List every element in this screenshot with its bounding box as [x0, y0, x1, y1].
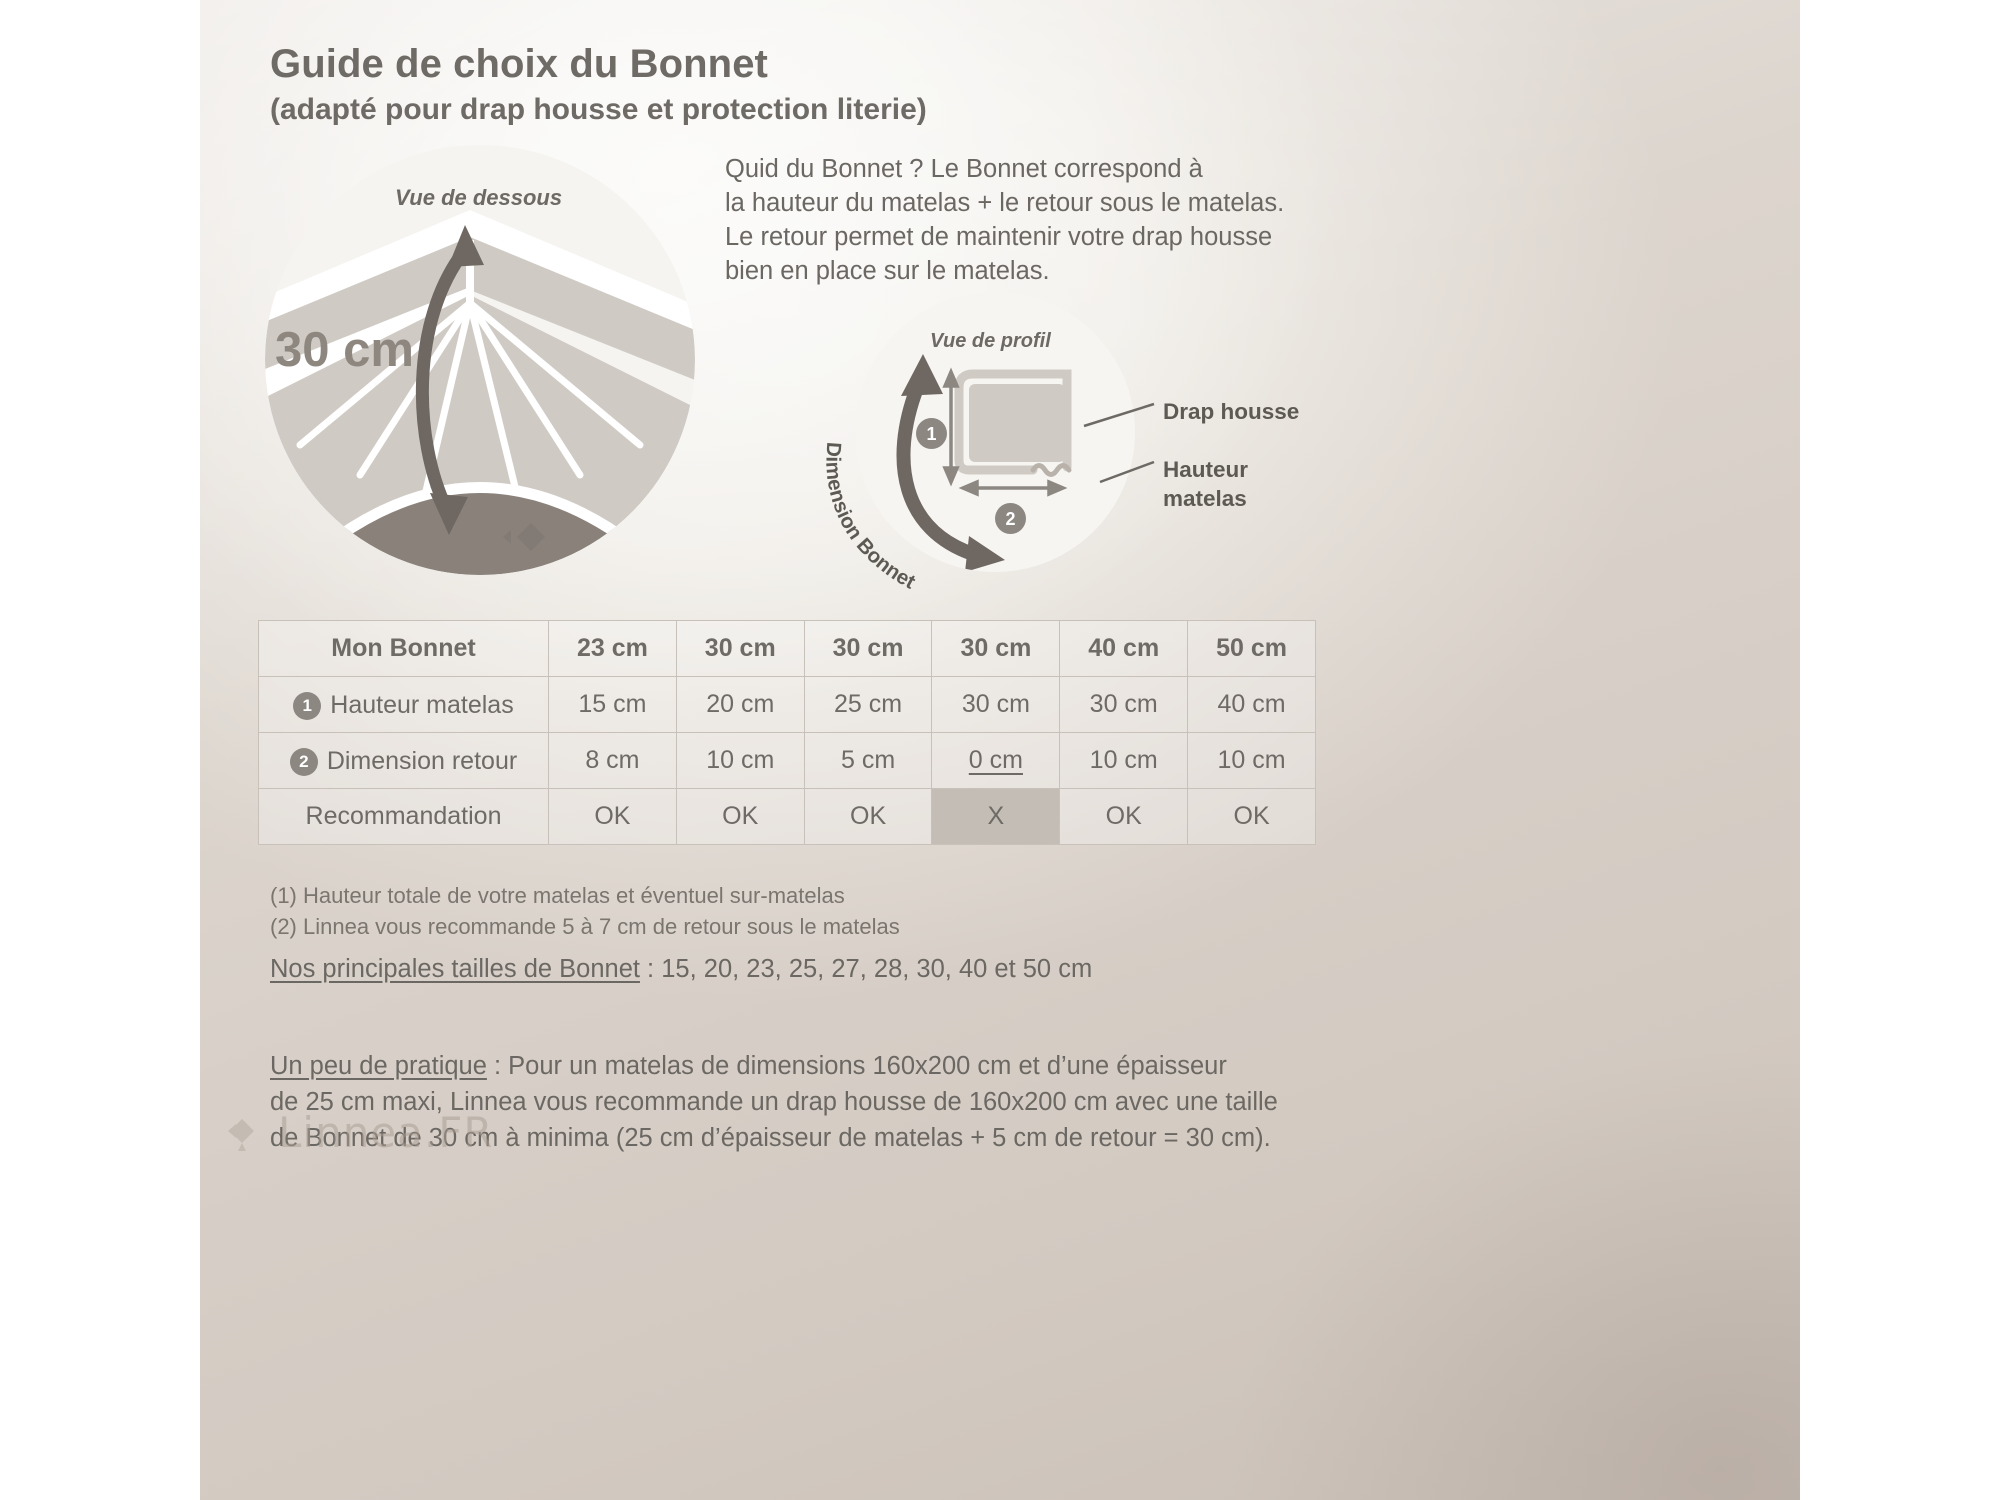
- table-cell: 25 cm: [804, 677, 932, 733]
- table-cell: 30 cm: [1060, 677, 1188, 733]
- table-row-label-text: Mon Bonnet: [331, 634, 475, 663]
- page-title: Guide de choix du Bonnet: [270, 42, 768, 87]
- table-cell: 30 cm: [804, 621, 932, 677]
- intro-paragraph: Quid du Bonnet ? Le Bonnet correspond à …: [725, 152, 1284, 288]
- table-cell: 30 cm: [676, 621, 804, 677]
- table-cell: OK: [1188, 789, 1316, 845]
- table-row-label: 1 Hauteur matelas: [259, 677, 549, 733]
- table-cell: 40 cm: [1188, 677, 1316, 733]
- table-cell: 50 cm: [1188, 621, 1316, 677]
- bonnet-table: Mon Bonnet 23 cm 30 cm 30 cm 30 cm 40 cm…: [258, 620, 1316, 845]
- arc-label-text: Dimension Bonnet: [821, 441, 919, 594]
- table-row-label: 2 Dimension retour: [259, 733, 549, 789]
- badge-1-profile: 1: [916, 418, 947, 449]
- table-cell: 23 cm: [549, 621, 677, 677]
- page-subtitle: (adapté pour drap housse et protection l…: [270, 93, 927, 127]
- table-cell-not-recommended: X: [932, 789, 1060, 845]
- bottom-view-label: Vue de dessous: [395, 185, 562, 211]
- profile-view-label: Vue de profil: [930, 330, 1051, 353]
- badge-1-table: 1: [293, 692, 321, 720]
- svg-text:Dimension Bonnet: Dimension Bonnet: [821, 441, 919, 594]
- table-row: 1 Hauteur matelas 15 cm 20 cm 25 cm 30 c…: [259, 677, 1316, 733]
- table-row: 2 Dimension retour 8 cm 10 cm 5 cm 0 cm …: [259, 733, 1316, 789]
- dimension-bonnet-arc-label: Dimension Bonnet: [812, 430, 1002, 600]
- infographic-canvas: Vue de dessous 30 cm: [200, 0, 1800, 1500]
- bonnet-table-wrapper: Mon Bonnet 23 cm 30 cm 30 cm 30 cm 40 cm…: [258, 620, 1316, 845]
- table-cell: 10 cm: [676, 733, 804, 789]
- practice-lead: Un peu de pratique: [270, 1052, 487, 1080]
- bonnet-measure-label: 30 cm: [275, 322, 414, 378]
- badge-2-table: 2: [290, 748, 318, 776]
- linnea-diamond-icon: [220, 1111, 264, 1155]
- table-cell: OK: [804, 789, 932, 845]
- table-cell: 30 cm: [932, 677, 1060, 733]
- linnea-logo-text: Linnea.FR: [278, 1108, 494, 1157]
- table-cell: OK: [549, 789, 677, 845]
- footnotes: (1) Hauteur totale de votre matelas et é…: [270, 880, 900, 942]
- table-cell: 5 cm: [804, 733, 932, 789]
- infographic-page: Vue de dessous 30 cm: [0, 0, 2000, 1500]
- table-row-label: Mon Bonnet: [259, 621, 549, 677]
- linnea-logo[interactable]: Linnea.FR: [220, 1108, 494, 1157]
- table-cell-highlighted-value: 0 cm: [969, 746, 1023, 774]
- table-row-label-text: Recommandation: [306, 802, 502, 831]
- table-cell: 30 cm: [932, 621, 1060, 677]
- sizes-line-rest: : 15, 20, 23, 25, 27, 28, 30, 40 et 50 c…: [640, 955, 1092, 983]
- table-row-label-text: Dimension retour: [327, 747, 517, 776]
- table-row-label-text: Hauteur matelas: [330, 691, 513, 720]
- table-cell: 20 cm: [676, 677, 804, 733]
- callout-hauteur-matelas: Hauteur matelas: [1163, 455, 1248, 513]
- table-cell: 10 cm: [1188, 733, 1316, 789]
- table-cell: 8 cm: [549, 733, 677, 789]
- table-cell: 40 cm: [1060, 621, 1188, 677]
- table-cell: 10 cm: [1060, 733, 1188, 789]
- sizes-line-lead: Nos principales tailles de Bonnet: [270, 955, 640, 983]
- table-row-label: Recommandation: [259, 789, 549, 845]
- callout-drap-housse: Drap housse: [1163, 397, 1299, 426]
- table-cell: 0 cm: [932, 733, 1060, 789]
- table-cell: OK: [1060, 789, 1188, 845]
- table-row: Recommandation OK OK OK X OK OK: [259, 789, 1316, 845]
- sizes-line: Nos principales tailles de Bonnet : 15, …: [270, 955, 1092, 984]
- table-cell: 15 cm: [549, 677, 677, 733]
- table-cell: OK: [676, 789, 804, 845]
- badge-2-profile: 2: [995, 503, 1026, 534]
- table-row: Mon Bonnet 23 cm 30 cm 30 cm 30 cm 40 cm…: [259, 621, 1316, 677]
